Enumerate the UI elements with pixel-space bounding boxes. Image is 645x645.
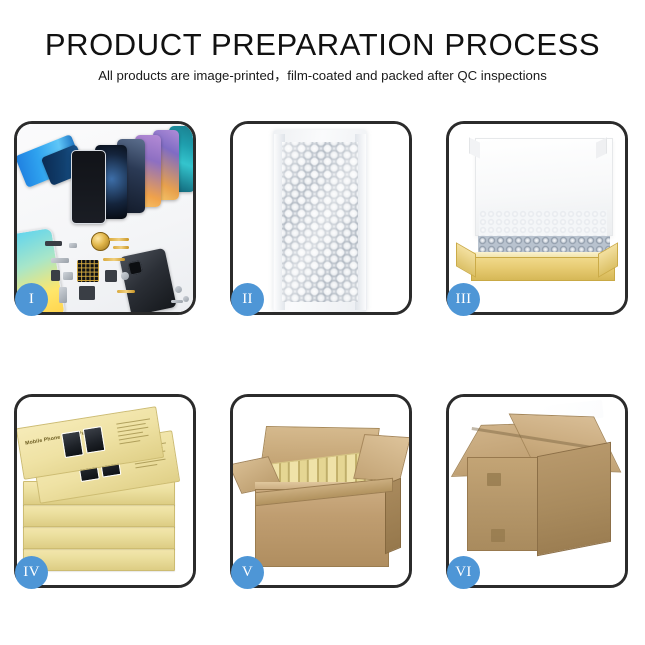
part-taptic-icon <box>79 286 95 300</box>
step-image-2 <box>233 124 409 312</box>
part-speaker-icon <box>45 241 62 246</box>
step-panel-3: III <box>446 121 628 315</box>
process-steps-grid: I II III <box>14 121 631 588</box>
step-panel-2: II <box>230 121 412 315</box>
step-image-5 <box>233 397 409 585</box>
step-image-6 <box>449 397 625 585</box>
step-image-1 <box>17 124 193 312</box>
step-badge-4: IV <box>15 556 48 589</box>
step-badge-1: I <box>15 283 48 316</box>
step-badge-6: VI <box>447 556 480 589</box>
carton-tape-patch-a-icon <box>487 473 501 486</box>
plastic-gloss-icon <box>282 142 358 302</box>
part-screw-b-icon <box>183 296 189 302</box>
part-flex-cable-b-icon <box>113 246 129 249</box>
retail-box-bottom-2-icon <box>23 525 175 549</box>
step-panel-1: I <box>14 121 196 315</box>
step-badge-5: V <box>231 556 264 589</box>
page-subtitle: All products are image-printed，film-coat… <box>0 67 645 85</box>
box-front-kraft-icon <box>471 257 615 281</box>
step-panel-6: VI <box>446 394 628 588</box>
part-power-flex-icon <box>59 287 67 303</box>
step-badge-2: II <box>231 283 264 316</box>
part-screw-a-icon <box>175 286 182 293</box>
lid-spec-lines-back-icon <box>116 418 154 451</box>
step-badge-3: III <box>447 283 480 316</box>
vibration-motor-icon <box>91 232 110 251</box>
part-flex-cable-d-icon <box>117 290 135 293</box>
lid-window-d-icon <box>83 426 106 454</box>
part-connector-icon <box>105 270 117 282</box>
retail-box-bottom-3-icon <box>23 503 175 527</box>
step-image-4: Mobile Phone Spare Parts Mobile Phone Sp… <box>17 397 193 585</box>
sealed-carton-side-face-icon <box>537 442 611 556</box>
step-image-3 <box>449 124 625 312</box>
chip-array-icon <box>77 260 99 282</box>
carton-tape-patch-b-icon <box>491 529 505 542</box>
lid-window-c-icon <box>61 430 84 458</box>
box-fold-left-icon <box>456 242 476 278</box>
part-flex-cable-a-icon <box>109 238 129 241</box>
page-header: PRODUCT PREPARATION PROCESS All products… <box>0 0 645 85</box>
part-sim-tray-icon <box>63 272 73 280</box>
part-button-icon <box>121 272 129 280</box>
foam-insert-icon <box>479 210 607 236</box>
part-shield-plate-icon <box>51 258 69 263</box>
part-tool-icon <box>171 300 183 303</box>
page-title: PRODUCT PREPARATION PROCESS <box>0 27 645 63</box>
part-flex-cable-c-icon <box>103 258 125 261</box>
phone-screen-glass-icon <box>71 150 106 224</box>
step-panel-5: V <box>230 394 412 588</box>
bubble-wrap-pouch-icon <box>273 130 367 312</box>
carton-flap-right-icon <box>353 434 409 482</box>
part-bracket-icon <box>69 243 77 248</box>
step-panel-4: Mobile Phone Spare Parts Mobile Phone Sp… <box>14 394 196 588</box>
part-camera-module-icon <box>51 270 60 281</box>
